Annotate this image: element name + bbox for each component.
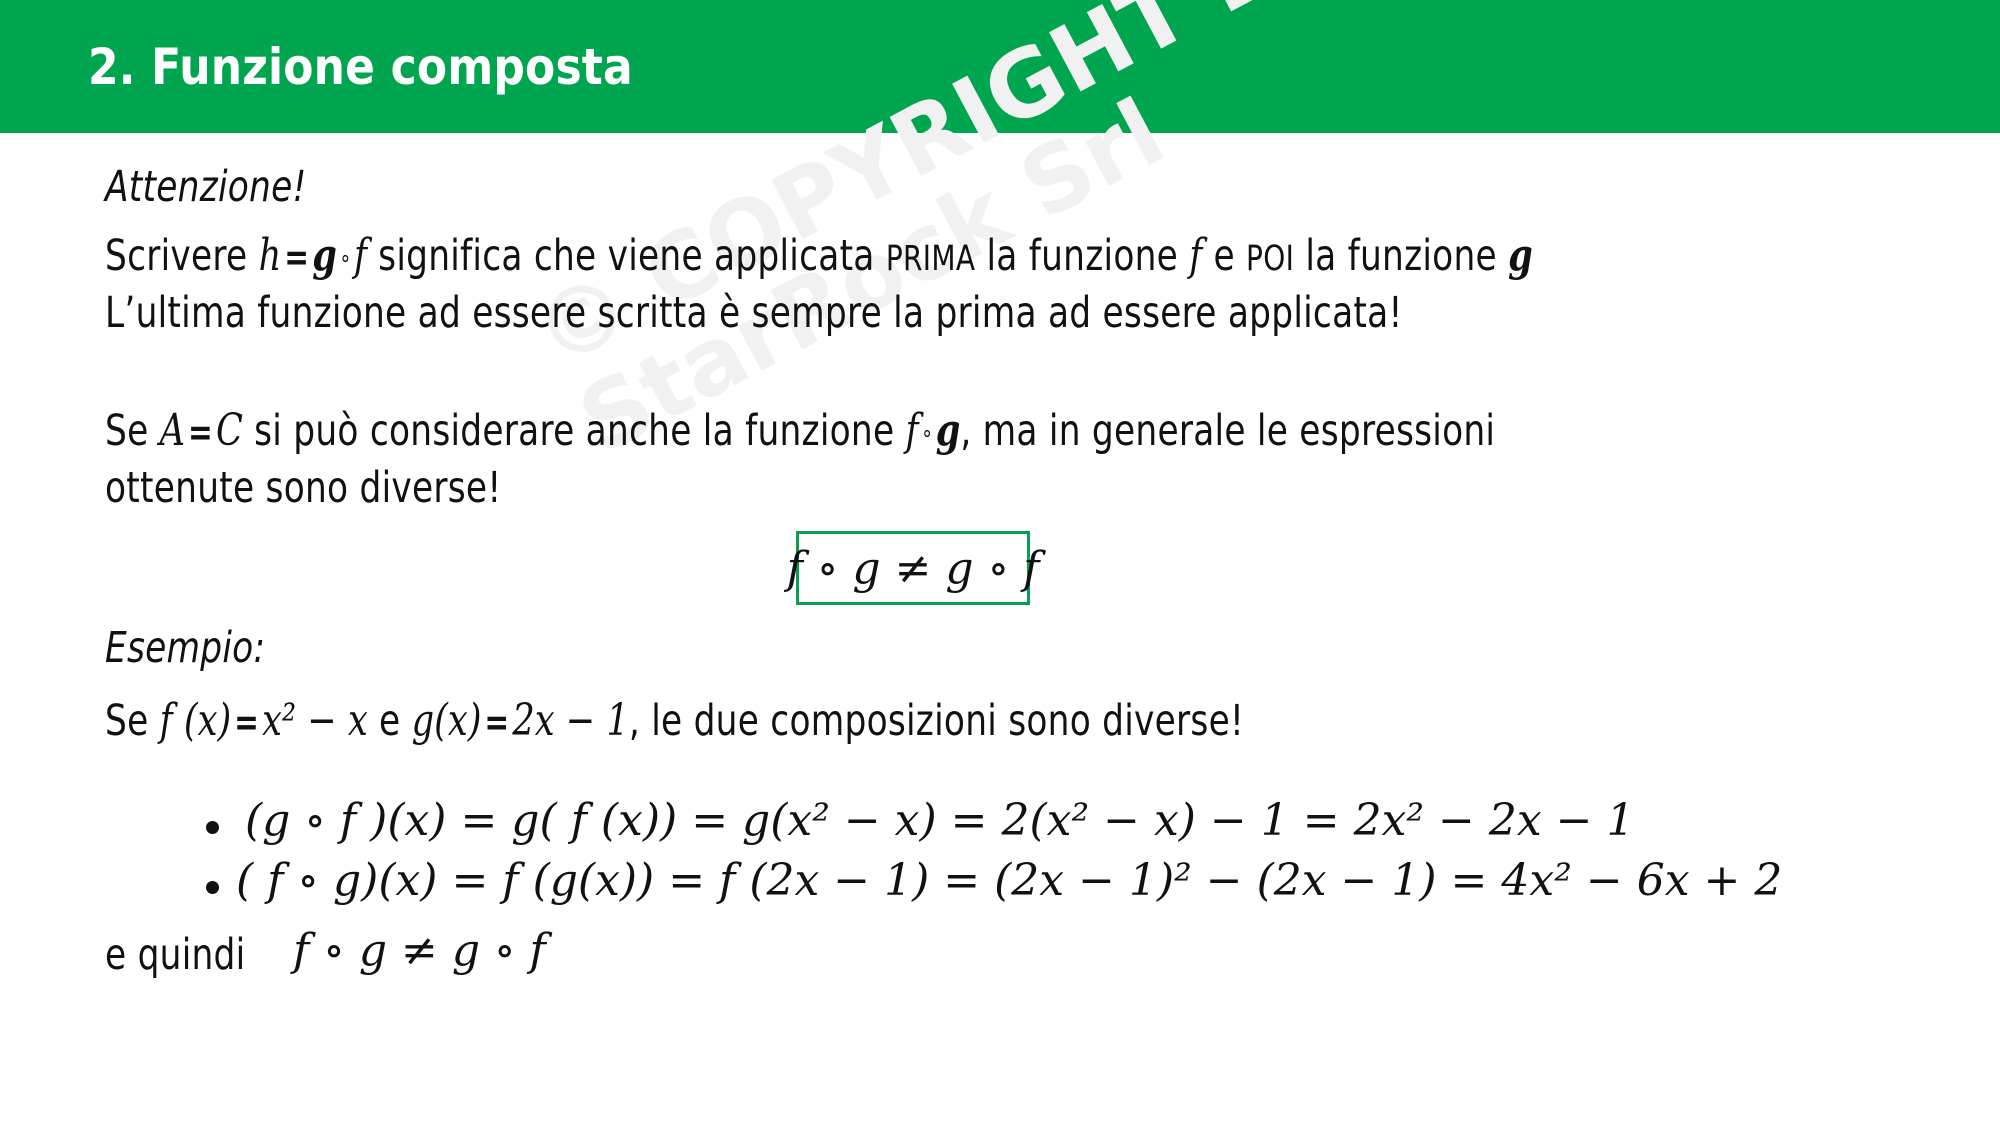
list-item: (g ∘ f )(x) = g( f (x)) = g(x² − x) = 2(… bbox=[245, 795, 1635, 846]
p1-smallcaps-poi: POI bbox=[1246, 239, 1294, 279]
paragraph-ultima-funzione: L’ultima funzione ad essere scritta è se… bbox=[105, 288, 1402, 338]
final-formula: f ∘ g ≠ g ∘ f bbox=[293, 925, 546, 976]
p1-math-g: g bbox=[312, 230, 337, 281]
p1-text-mid: la funzione bbox=[975, 231, 1189, 281]
p5-text-before: Se bbox=[105, 696, 160, 746]
esempio-label: Esempio: bbox=[105, 623, 265, 673]
slide-body: Attenzione! Scrivere h=g∘f significa che… bbox=[0, 133, 2000, 1125]
p1-math-equals: = bbox=[281, 236, 312, 279]
paragraph-definizioni-funzioni: Se f (x)=x² − x e g(x)=2x − 1, le due co… bbox=[105, 695, 1244, 746]
p5-math-equals-1: = bbox=[231, 701, 262, 744]
p3-text-before: Se bbox=[105, 406, 160, 456]
composition-ring-icon: ∘ bbox=[337, 244, 354, 272]
p5-math-fx: f (x) bbox=[160, 695, 232, 746]
composition-ring-icon: ∘ bbox=[919, 419, 936, 447]
p3-text-mid: si può considerare anche la funzione bbox=[243, 406, 906, 456]
p3-math-C: C bbox=[216, 405, 243, 456]
p5-math-equals-2: = bbox=[481, 701, 512, 744]
p3-math-f: f bbox=[906, 405, 919, 456]
p3-text-after: , ma in generale le espressioni bbox=[960, 406, 1495, 456]
p3-math-A: A bbox=[160, 405, 185, 456]
p3-math-equals: = bbox=[185, 411, 216, 454]
p1-math-h: h bbox=[259, 230, 282, 281]
attenzione-label: Attenzione! bbox=[105, 162, 307, 212]
paragraph-scrivere: Scrivere h=g∘f significa che viene appli… bbox=[105, 230, 1533, 281]
bullet-marker bbox=[206, 821, 219, 834]
slide: 2. Funzione composta © COPYRIGHT 2015 St… bbox=[0, 0, 2000, 1125]
paragraph-ottenute-diverse: ottenute sono diverse! bbox=[105, 463, 501, 513]
p1-text-after: significa che viene applicata bbox=[367, 231, 886, 281]
slide-header-bar: 2. Funzione composta bbox=[0, 0, 2000, 133]
page-title: 2. Funzione composta bbox=[88, 38, 633, 96]
p1-text-mid3: la funzione bbox=[1294, 231, 1508, 281]
p1-text-mid2: e bbox=[1202, 231, 1246, 281]
p6-text-before: e quindi bbox=[105, 930, 245, 980]
p1-math-f2: f bbox=[1189, 230, 1202, 281]
paragraph-e-quindi: e quindi bbox=[105, 930, 245, 980]
p1-text-before: Scrivere bbox=[105, 231, 259, 281]
p5-math-gx: g(x) bbox=[412, 695, 482, 746]
p5-math-expr-2: 2x − 1 bbox=[512, 695, 629, 746]
p5-math-expr-1: x² − x bbox=[262, 695, 368, 746]
paragraph-se-a-uguale-c: Se A=C si può considerare anche la funzi… bbox=[105, 405, 1495, 456]
bullet-marker bbox=[206, 881, 219, 894]
boxed-formula-container: f ∘ g ≠ g ∘ f bbox=[796, 531, 1030, 605]
p1-smallcaps-prima: PRIMA bbox=[886, 239, 976, 279]
boxed-formula: f ∘ g ≠ g ∘ f bbox=[787, 543, 1040, 594]
p1-math-g2: g bbox=[1508, 230, 1533, 281]
list-item: ( f ∘ g)(x) = f (g(x)) = f (2x − 1) = (2… bbox=[236, 855, 1782, 906]
p1-math-f: f bbox=[354, 230, 367, 281]
p5-text-mid: e bbox=[368, 696, 412, 746]
p5-text-after: , le due composizioni sono diverse! bbox=[629, 696, 1244, 746]
p3-math-g: g bbox=[936, 405, 961, 456]
